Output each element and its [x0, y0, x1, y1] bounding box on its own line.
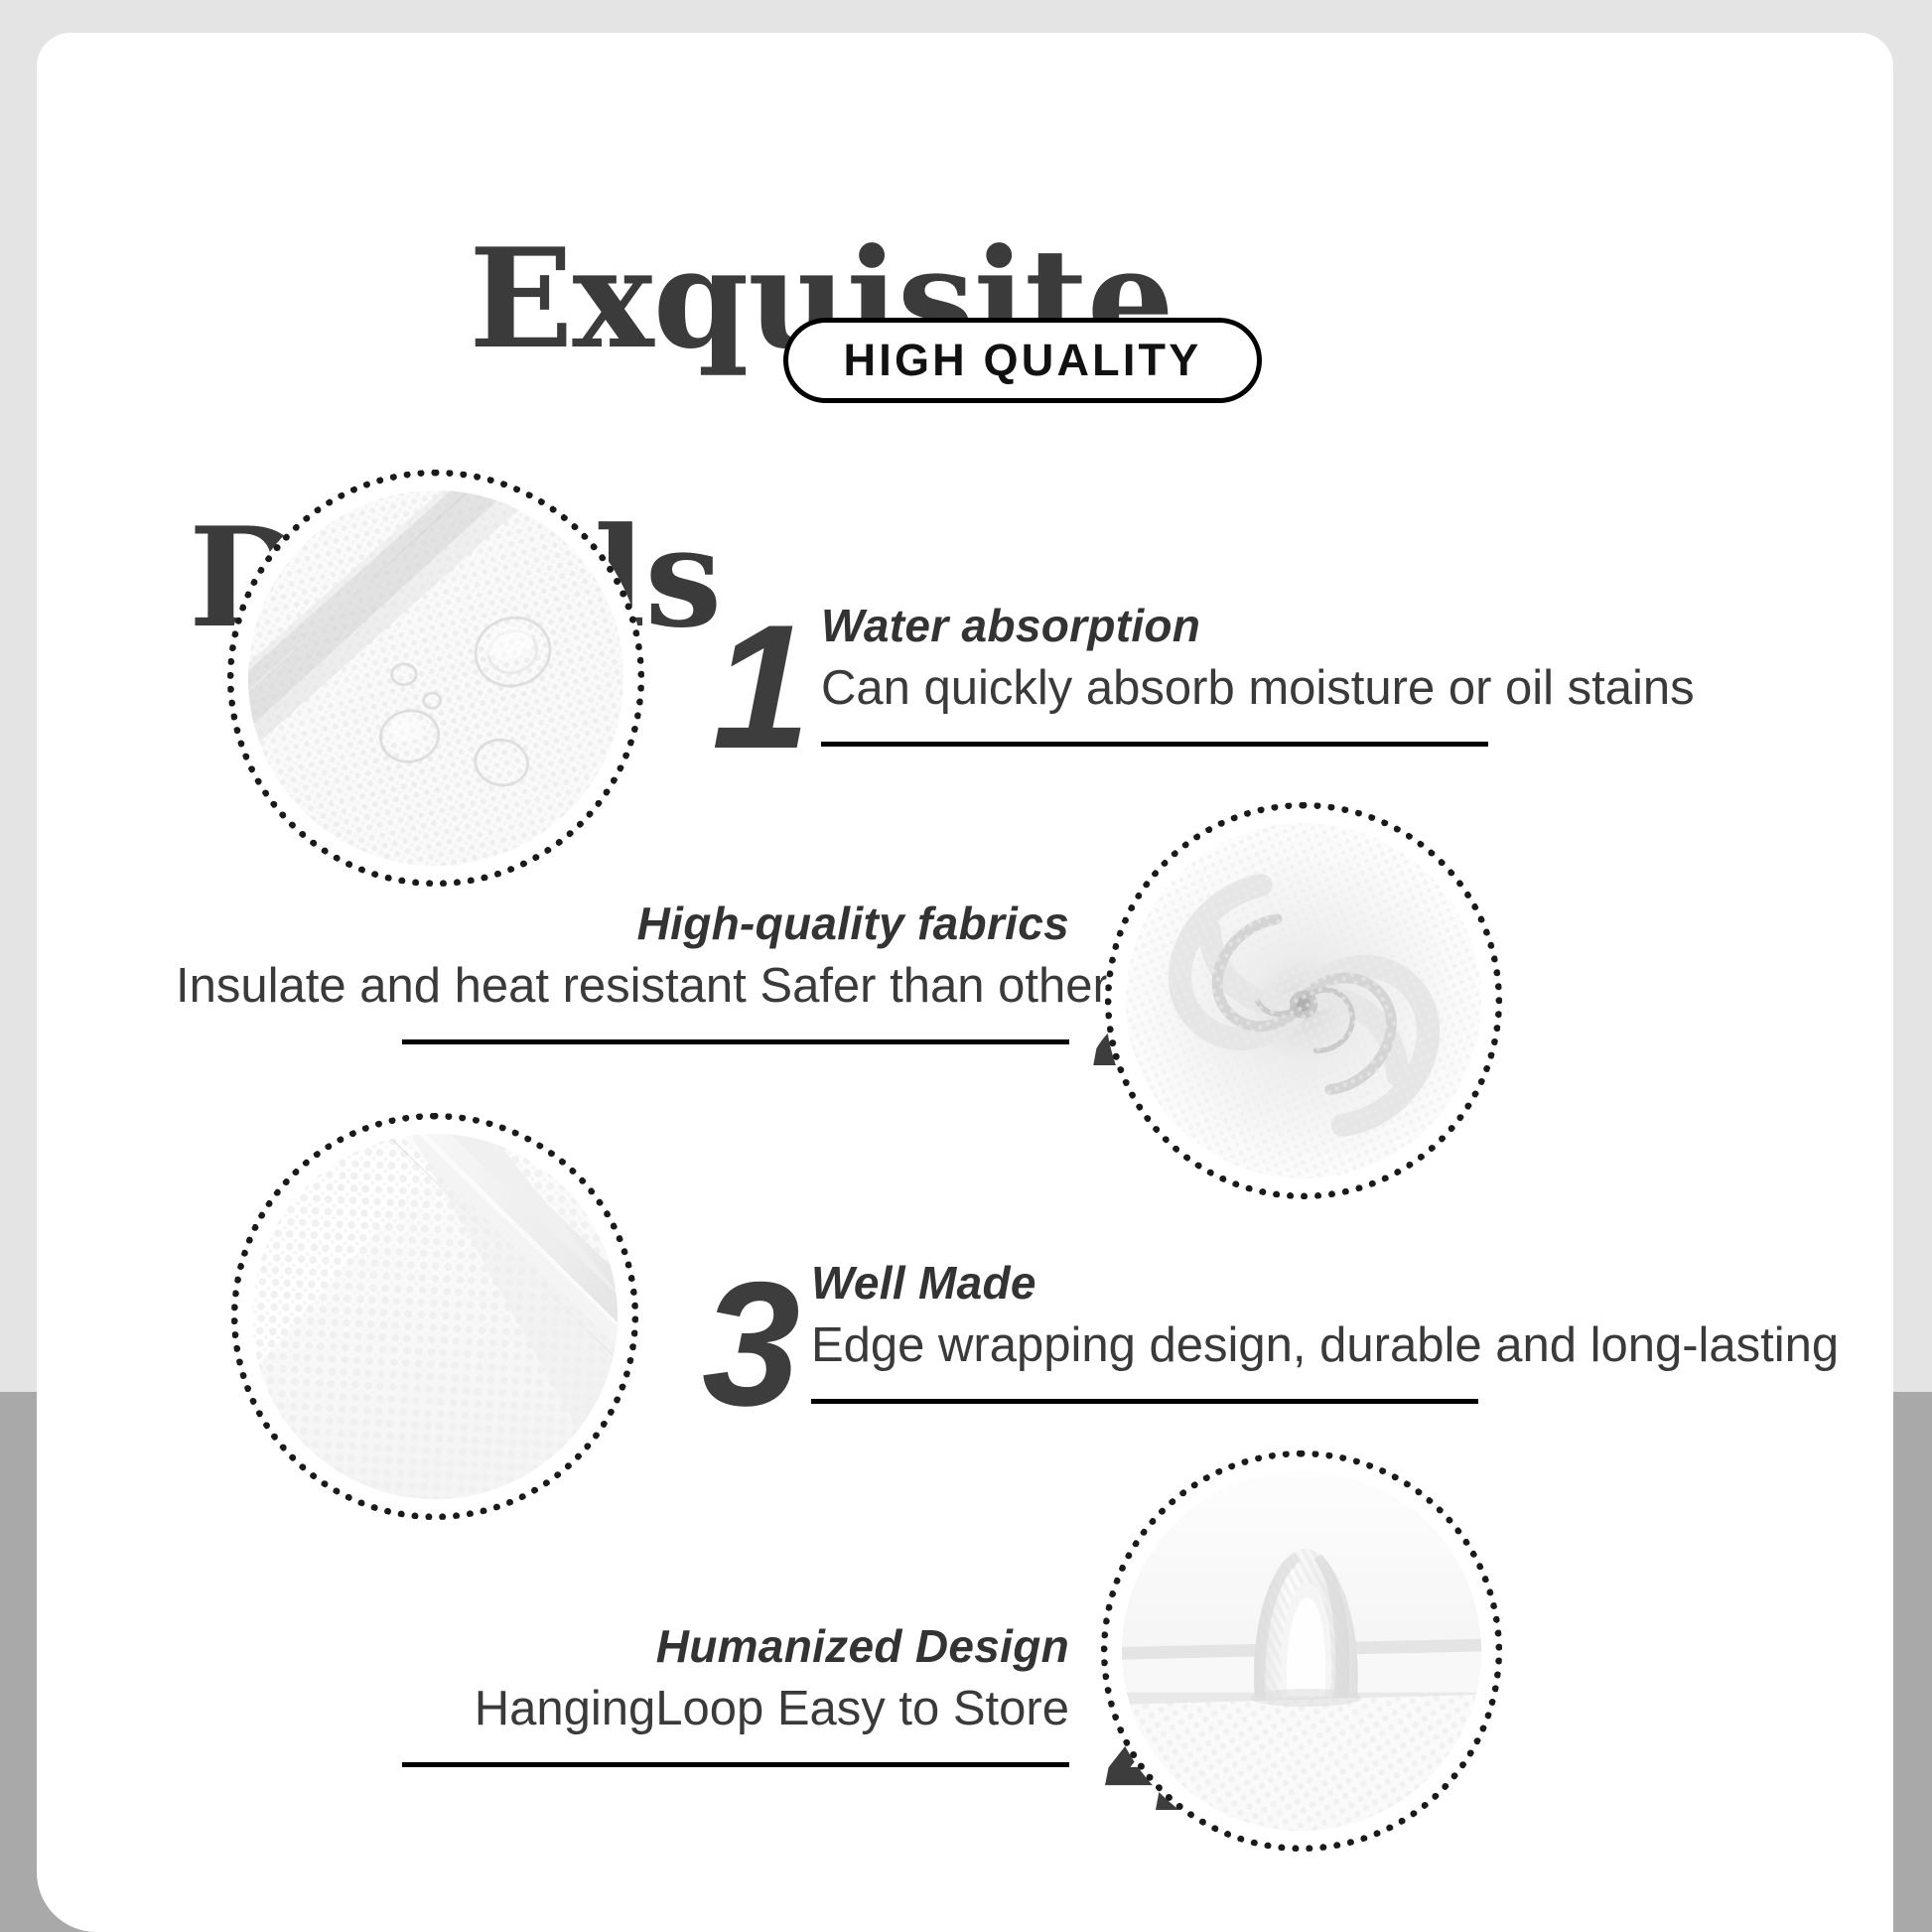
feature-text-3: Well Made Edge wrapping design, durable … — [811, 1256, 1839, 1404]
feature-item-1: 1 Water absorption Can quickly absorb mo… — [712, 599, 1695, 747]
feature-divider-2 — [402, 1039, 1069, 1044]
feature-divider-4 — [402, 1762, 1069, 1767]
feature-divider-1 — [821, 742, 1488, 747]
fabric-hanging-loop-photo — [1101, 1450, 1502, 1852]
feature-number-1: 1 — [712, 599, 804, 775]
fabric-water-droplets-photo — [227, 470, 644, 887]
photo-clip — [1122, 1471, 1481, 1831]
feature-description-2: Insulate and heat resistant Safer than o… — [176, 958, 1069, 1014]
feature-item-3: 3 Well Made Edge wrapping design, durabl… — [702, 1256, 1839, 1404]
status-badge-label: HIGH QUALITY — [844, 335, 1202, 386]
photo-clip — [252, 1134, 618, 1499]
fabric-water-droplets-image — [248, 490, 623, 866]
photo-clip — [248, 490, 623, 866]
feature-title-4: Humanized Design — [206, 1619, 1069, 1673]
fabric-swirl-texture-image — [1126, 823, 1481, 1178]
fabric-edge-wrapping-photo — [231, 1113, 638, 1520]
feature-item-4: 4 Humanized Design HangingLoop Easy to S… — [206, 1619, 1069, 1767]
feature-title-3: Well Made — [811, 1256, 1839, 1310]
feature-text-4: Humanized Design HangingLoop Easy to Sto… — [206, 1619, 1069, 1767]
fabric-swirl-texture-photo — [1105, 802, 1502, 1199]
feature-title-1: Water absorption — [821, 599, 1695, 652]
feature-number-3: 3 — [702, 1256, 794, 1433]
infographic-page: Exquisite Details HIGH QUALITY — [0, 0, 1932, 1932]
feature-title-2: High-quality fabrics — [176, 897, 1069, 950]
fabric-edge-wrapping-image — [252, 1134, 618, 1499]
status-badge: HIGH QUALITY — [783, 318, 1262, 403]
feature-description-4: HangingLoop Easy to Store — [206, 1681, 1069, 1736]
feature-description-3: Edge wrapping design, durable and long-l… — [811, 1317, 1839, 1373]
product-detail-card: Exquisite Details HIGH QUALITY — [37, 33, 1893, 1932]
feature-text-1: Water absorption Can quickly absorb mois… — [821, 599, 1695, 747]
feature-divider-3 — [811, 1399, 1478, 1404]
fabric-hanging-loop-image — [1122, 1471, 1481, 1831]
feature-text-2: High-quality fabrics Insulate and heat r… — [176, 897, 1069, 1044]
photo-clip — [1126, 823, 1481, 1178]
feature-description-1: Can quickly absorb moisture or oil stain… — [821, 660, 1695, 716]
feature-item-2: 2 High-quality fabrics Insulate and heat… — [176, 897, 1069, 1044]
